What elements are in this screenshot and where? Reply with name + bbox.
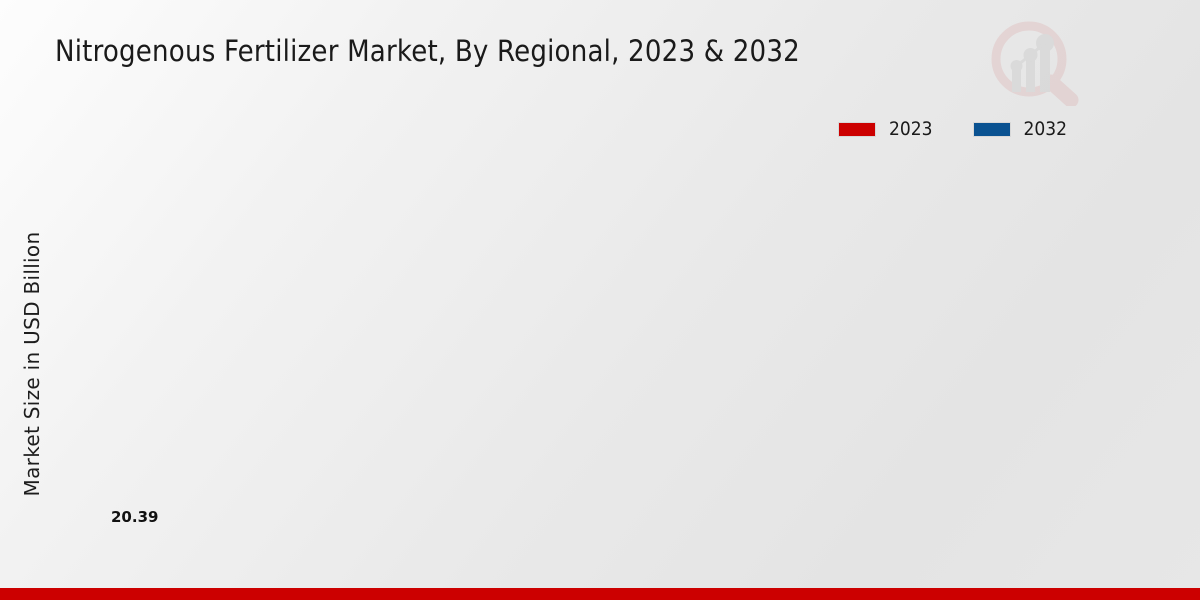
legend-swatch-2023 <box>838 122 876 137</box>
legend-label-2032: 2032 <box>1024 118 1068 140</box>
legend-item-2032[interactable]: 2032 <box>973 118 1068 140</box>
legend-swatch-2032 <box>973 122 1011 137</box>
chart-legend: 2023 2032 <box>838 118 1067 140</box>
page-title: Nitrogenous Fertilizer Market, By Region… <box>55 34 800 68</box>
plot-area: 20.39 NORTH AMERICA EUROPE SOUTH AMERICA… <box>38 150 1188 466</box>
footer-accent-bar <box>0 588 1200 600</box>
legend-item-2023[interactable]: 2023 <box>838 118 933 140</box>
chart-canvas: Nitrogenous Fertilizer Market, By Region… <box>0 0 1200 600</box>
legend-label-2023: 2023 <box>889 118 933 140</box>
magnifier-bar-chart-watermark-icon <box>985 18 1080 106</box>
bar-value-2023-north-america: 20.39 <box>111 508 158 526</box>
